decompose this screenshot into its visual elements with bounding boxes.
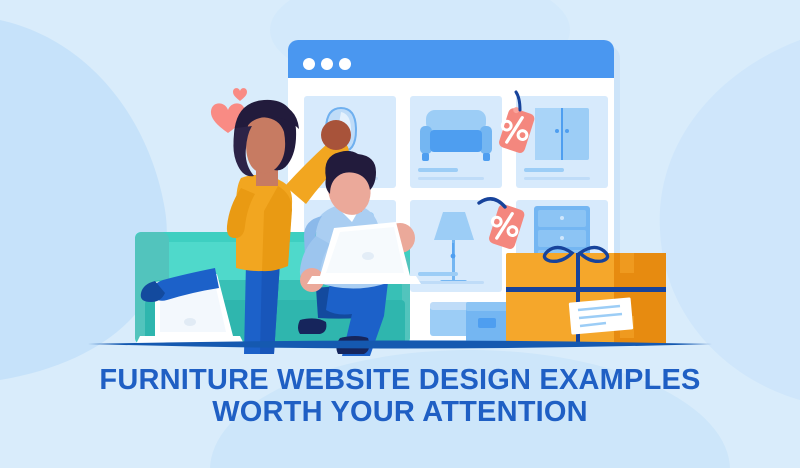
browser-dot-1 xyxy=(303,58,315,70)
woman-hand xyxy=(321,120,351,150)
box-flap-right xyxy=(620,253,634,273)
wardrobe-card-line-1 xyxy=(524,168,564,172)
illustration-banner: FURNITURE WEBSITE DESIGN EXAMPLES WORTH … xyxy=(0,0,800,468)
box-shipping-label xyxy=(569,297,634,334)
browser-dot-2 xyxy=(321,58,333,70)
box-tape-horizontal xyxy=(506,287,666,292)
lamp-card-line-2 xyxy=(418,281,484,284)
wardrobe-icon xyxy=(535,108,589,160)
page-title-line-1: FURNITURE WEBSITE DESIGN EXAMPLES xyxy=(0,366,800,395)
cardboard-box-small xyxy=(466,302,508,344)
cardboard-box-large xyxy=(506,247,666,345)
armchair-card-line-1 xyxy=(418,168,458,172)
man-shoe-back xyxy=(298,318,326,334)
lamp-card-line-1 xyxy=(418,272,458,276)
page-title-line-2: WORTH YOUR ATTENTION xyxy=(0,398,800,427)
wardrobe-card-line-2 xyxy=(524,177,590,180)
browser-dot-3 xyxy=(339,58,351,70)
armchair-card-line-2 xyxy=(418,177,484,180)
browser-titlebar xyxy=(288,40,614,78)
